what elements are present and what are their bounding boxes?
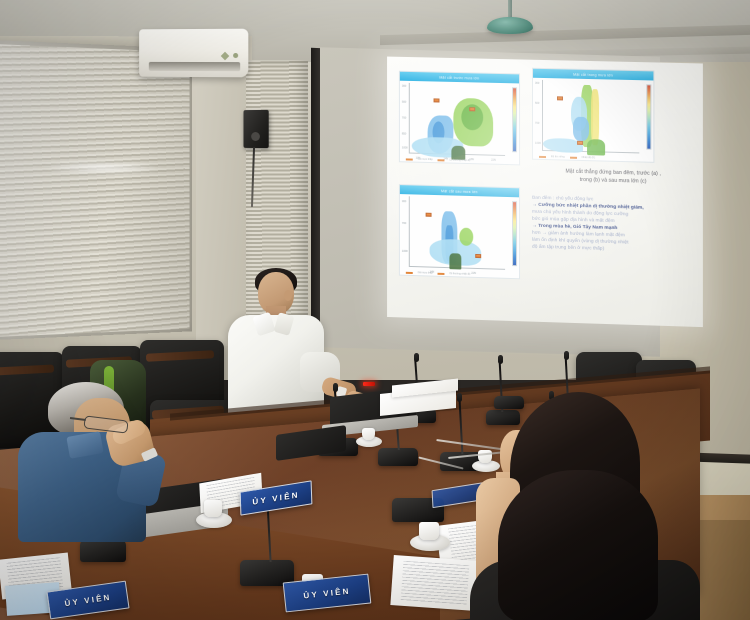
plot-top-left: 300 500 700 850 1000 10N 14N 18N 22N: [400, 81, 519, 165]
person-hair: [498, 470, 658, 620]
field-contour: [573, 117, 589, 141]
microphone-capsule: [333, 383, 338, 392]
conference-room-photo: Mặt cắt trước mưa lớn 300 500 700 850 10…: [0, 0, 750, 620]
y-tick: 850: [402, 132, 406, 135]
speaker-cone: [251, 132, 260, 141]
plot-legend: Gió mực thấp Dị thường nhiệt độ: [406, 157, 513, 163]
ceiling-fan-icon: [487, 17, 533, 34]
microphone-base[interactable]: [80, 540, 126, 562]
legend-swatch: [406, 158, 413, 160]
marker-icon: [475, 254, 481, 258]
nameplate-text: ỦY VIÊN: [252, 490, 300, 506]
plot-bottom-left: 300 700 1000 14N 22N Gió mực thấp Dị thư…: [400, 194, 519, 278]
legend-label: Dị thường nhiệt độ: [450, 272, 471, 276]
slide-panel-top-left: Mặt cắt trước mưa lớn 300 500 700 850 10…: [399, 71, 520, 166]
legend-label: Nhiệt độ (K): [582, 156, 595, 159]
status-led-indicator: [363, 382, 375, 386]
presenter-ear: [284, 290, 292, 301]
nameplate-text: ỦY VIÊN: [64, 592, 112, 607]
legend-swatch: [438, 272, 445, 274]
y-tick: 1000: [402, 250, 408, 253]
field-contour: [591, 89, 599, 145]
marker-icon: [426, 213, 432, 217]
legend-swatch: [539, 155, 546, 157]
y-tick: 1000: [535, 142, 541, 145]
ac-vent: [149, 62, 240, 71]
panel-title-top-left: Mặt cắt trước mưa lớn: [439, 75, 479, 80]
ac-status-led: [233, 53, 238, 58]
marker-icon: [557, 96, 563, 100]
slide-panel-top-right: Mặt cắt trong mưa lớn 300 500 700 1000: [532, 68, 654, 163]
legend-label: Gió mực thấp: [418, 158, 433, 161]
terrain-shape: [449, 253, 461, 269]
y-axis: [409, 83, 410, 154]
projected-slide: Mặt cắt trước mưa lớn 300 500 700 850 10…: [387, 57, 703, 328]
y-axis: [542, 80, 543, 151]
slide-body-text: Ban đêm : chủ yếu động lực → Cưỡng bức n…: [532, 196, 699, 257]
ac-logo-icon: [221, 52, 230, 61]
window-blinds[interactable]: [0, 40, 192, 340]
y-tick: 500: [535, 102, 539, 105]
y-tick: 700: [535, 122, 539, 125]
colorbar: [512, 87, 517, 152]
legend-label: Dị thường nhiệt độ: [450, 159, 471, 163]
microphone-capsule: [564, 351, 569, 360]
document-lines: [401, 561, 469, 605]
y-tick: 1000: [402, 146, 408, 149]
wall-pier: [196, 36, 252, 346]
microphone-base[interactable]: [494, 396, 524, 409]
legend-label: Độ ẩm riêng: [551, 155, 565, 158]
y-tick: 300: [402, 200, 406, 203]
terrain-shape: [587, 139, 605, 155]
slide-panel-bottom-left: Mặt cắt sau mưa lớn 300 700 1000 14N 22N: [399, 184, 520, 279]
y-tick: 700: [402, 222, 406, 225]
teacup[interactable]: [362, 428, 375, 440]
y-tick: 300: [535, 82, 539, 85]
microphone-base[interactable]: [486, 410, 520, 425]
microphone-capsule: [498, 355, 503, 364]
colorbar: [512, 201, 517, 266]
plot-top-right: 300 500 700 1000 Độ ẩm riêng Nhiệt độ (K…: [533, 78, 653, 162]
marker-icon: [577, 141, 583, 145]
panel-title-top-right: Mặt cắt trong mưa lớn: [573, 72, 613, 77]
marker-icon: [434, 98, 440, 102]
teacup[interactable]: [204, 500, 222, 517]
colorbar: [646, 84, 651, 149]
y-axis: [409, 196, 410, 267]
y-tick: 700: [402, 117, 406, 120]
wall-speaker-icon: [243, 110, 268, 148]
legend-swatch: [570, 156, 577, 158]
plot-legend: Gió mực thấp Dị thường nhiệt độ: [406, 271, 513, 277]
field-contour: [459, 228, 473, 246]
legend-label: Gió mực thấp: [418, 271, 433, 274]
y-tick: 500: [402, 101, 406, 104]
panel-title-bottom-left: Mặt cắt sau mưa lớn: [441, 189, 478, 194]
y-tick: 300: [402, 85, 406, 88]
marker-icon: [469, 107, 475, 111]
air-conditioner-icon: [139, 29, 248, 78]
plot-legend: Độ ẩm riêng Nhiệt độ (K): [539, 155, 647, 161]
nameplate-text: ỦY VIÊN: [303, 586, 351, 600]
slide-caption: Mặt cắt thẳng đứng ban đêm, trước (a) , …: [530, 168, 697, 188]
legend-swatch: [406, 271, 413, 273]
blinds-sheen: [0, 40, 192, 340]
microphone-capsule: [414, 353, 419, 362]
legend-swatch: [438, 159, 445, 161]
microphone-base[interactable]: [378, 448, 418, 466]
blinds-light-glare: [41, 160, 162, 174]
microphone-capsule: [457, 393, 462, 402]
document[interactable]: [390, 555, 479, 611]
teacup[interactable]: [419, 522, 439, 540]
